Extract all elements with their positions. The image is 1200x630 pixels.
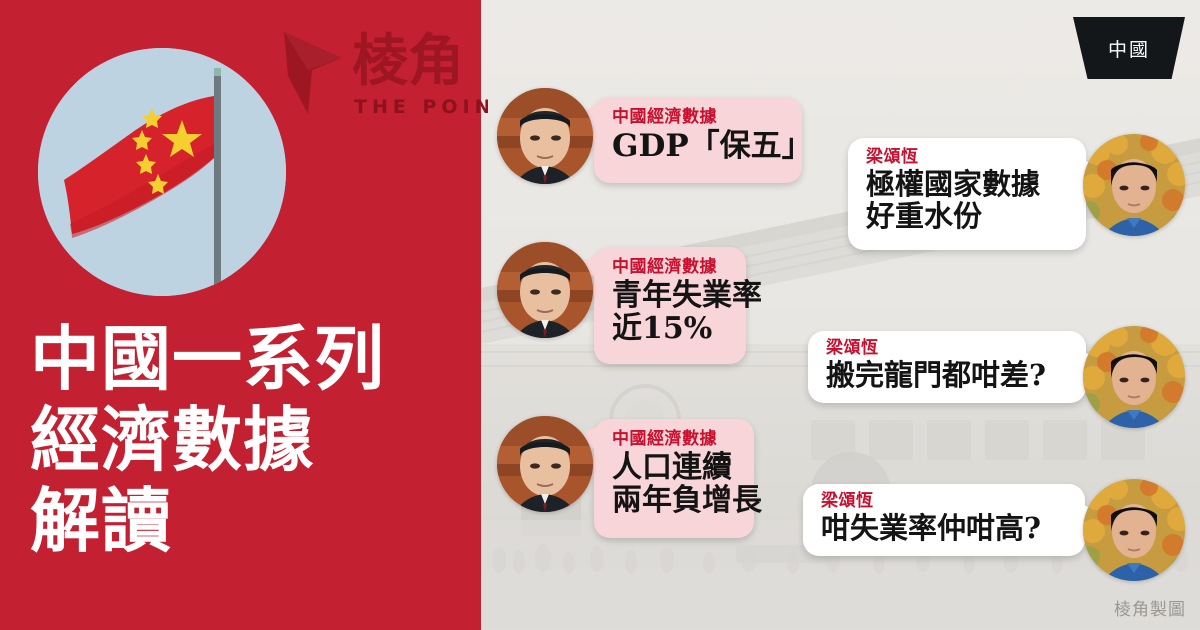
xi-jinping-avatar: [497, 242, 593, 338]
watermark-credit: 棱角製圖: [1114, 595, 1186, 620]
badge-label: 中國: [1073, 17, 1185, 79]
brand-logo: 棱角 THE POINTS: [278, 18, 488, 130]
bubble-kicker: 梁頌恆: [866, 148, 1072, 167]
bubble-text: 極權國家數據 好重水份: [866, 168, 1072, 233]
bubble-kicker: 中國經濟數據: [612, 258, 732, 277]
bubble-text-line: 極權國家數據: [866, 168, 1072, 200]
page-title: 中國一系列 經濟數據 解讀: [30, 318, 460, 562]
bubble-text: 青年失業率 近15%: [612, 279, 732, 346]
speech-bubble-data-quality[interactable]: 梁頌恆 極權國家數據 好重水份: [848, 138, 1086, 250]
xi-jinping-avatar: [497, 88, 593, 184]
poster-canvas: 中國一系列 經濟數據 解讀 棱角 THE POINTS 中國: [0, 0, 1200, 630]
headline-line-3: 解讀: [30, 480, 460, 561]
bubble-kicker: 梁頌恆: [821, 492, 1071, 511]
bubble-text-line: 人口連續: [612, 451, 740, 485]
bubble-text: 咁失業率仲咁高?: [821, 512, 1071, 544]
logo-en-text: THE POINTS: [354, 96, 488, 118]
china-flag-photo: [38, 48, 286, 296]
logo-cn-text: 棱角: [352, 28, 464, 94]
speech-bubble-goalpost[interactable]: 梁頌恆 搬完龍門都咁差?: [808, 331, 1086, 403]
headline-line-1: 中國一系列: [30, 318, 460, 399]
speech-bubble-gdp[interactable]: 中國經濟數據 GDP「保五」: [594, 97, 802, 183]
speech-bubble-youth-unemployment[interactable]: 中國經濟數據 青年失業率 近15%: [594, 247, 746, 364]
bubble-text-line: 兩年負增長: [612, 484, 740, 518]
bubble-text-line: 咁失業率仲咁高?: [821, 512, 1071, 544]
leung-chung-hang-avatar: [1083, 479, 1185, 581]
bubble-text-line: 青年失業率: [612, 279, 732, 313]
bubble-text: 搬完龍門都咁差?: [826, 359, 1072, 391]
xi-jinping-avatar: [497, 416, 593, 512]
speech-bubble-unemployment-high[interactable]: 梁頌恆 咁失業率仲咁高?: [803, 484, 1085, 556]
bubble-kicker: 中國經濟數據: [612, 108, 786, 127]
speech-bubble-population[interactable]: 中國經濟數據 人口連續 兩年負增長: [594, 419, 754, 538]
bubble-text-line: 搬完龍門都咁差?: [826, 359, 1072, 391]
category-badge[interactable]: 中國: [1073, 17, 1185, 79]
leung-chung-hang-avatar: [1083, 326, 1185, 428]
bubble-text: 人口連續 兩年負增長: [612, 451, 740, 518]
bubble-kicker: 梁頌恆: [826, 339, 1072, 358]
bubble-text: GDP「保五」: [612, 129, 786, 164]
headline-line-2: 經濟數據: [30, 399, 460, 480]
bubble-text-line: 近15%: [612, 312, 732, 346]
bubble-kicker: 中國經濟數據: [612, 430, 740, 449]
bubble-text-line: 好重水份: [866, 200, 1072, 232]
bubble-text-line: GDP「保五」: [612, 129, 786, 164]
leung-chung-hang-avatar: [1083, 134, 1185, 236]
